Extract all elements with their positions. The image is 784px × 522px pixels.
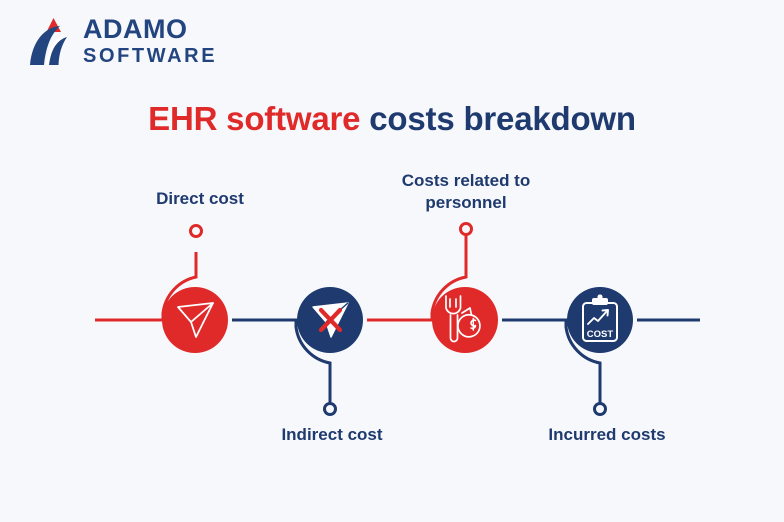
endpoint-dot-incurred <box>595 404 606 415</box>
node-circle-direct[interactable] <box>162 287 228 353</box>
node-label-direct-cost: Direct cost <box>115 188 285 210</box>
clipboard-cost-label: COST <box>587 329 614 340</box>
node-circle-personnel[interactable] <box>432 287 498 353</box>
endpoint-dot-indirect <box>325 404 336 415</box>
node-label-costs-related-to-personnel: Costs related to personnel <box>381 170 551 215</box>
endpoint-dot-personnel <box>461 224 472 235</box>
infographic-canvas: ADAMO SOFTWARE EHR software costs breakd… <box>0 0 784 522</box>
node-indirect-cost[interactable] <box>297 287 363 353</box>
node-label-indirect-cost: Indirect cost <box>247 424 417 446</box>
node-label-incurred-costs: Incurred costs <box>522 424 692 446</box>
node-costs-related-to-personnel[interactable] <box>432 287 498 353</box>
node-direct-cost[interactable] <box>162 287 228 353</box>
node-incurred-costs[interactable]: COST <box>567 287 633 353</box>
endpoint-dot-direct <box>191 226 202 237</box>
